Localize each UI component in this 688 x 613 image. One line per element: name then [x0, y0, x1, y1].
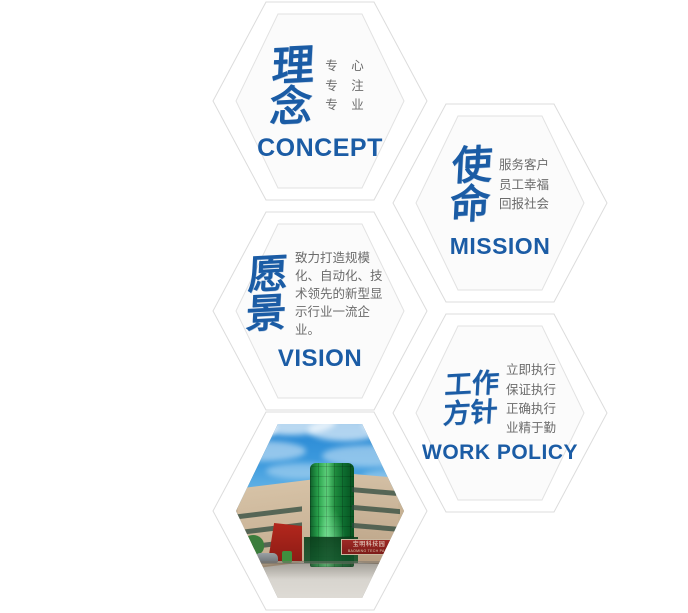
concept-side-text: 专 心 专 注 专 业: [325, 57, 368, 115]
concept-brush-characters: 理 念: [269, 44, 316, 128]
culture-hexagon-board: 理 念 专 心 专 注 专 业 CONCEPT 使 命: [0, 0, 688, 613]
vision-brush-char-2: 景: [245, 293, 287, 334]
work-policy-side-text: 立即执行 保证执行 正确执行 业精于勤: [506, 361, 556, 439]
concept-english-label: CONCEPT: [257, 134, 383, 163]
concept-brush-char-2: 念: [269, 85, 313, 128]
vision-side-text: 致力打造规模化、自动化、技术领先的新型显示行业一流企业。: [295, 249, 393, 340]
mission-brush-characters: 使 命: [449, 145, 493, 225]
vision-english-label: VISION: [278, 345, 362, 373]
mission-english-label: MISSION: [450, 233, 551, 260]
hexagon-building-photo[interactable]: 宝明科技园 BAOMING TECH PARK: [212, 411, 428, 611]
work-policy-brush-characters: 工作 方针: [442, 370, 499, 430]
vision-brush-characters: 愿 景: [245, 254, 289, 334]
work-policy-brush-char-2: 方针: [442, 399, 498, 430]
mission-brush-char-2: 命: [449, 184, 491, 225]
work-policy-english-label: WORK POLICY: [422, 441, 578, 465]
mission-side-text: 服务客户 员工幸福 回报社会: [499, 156, 549, 214]
